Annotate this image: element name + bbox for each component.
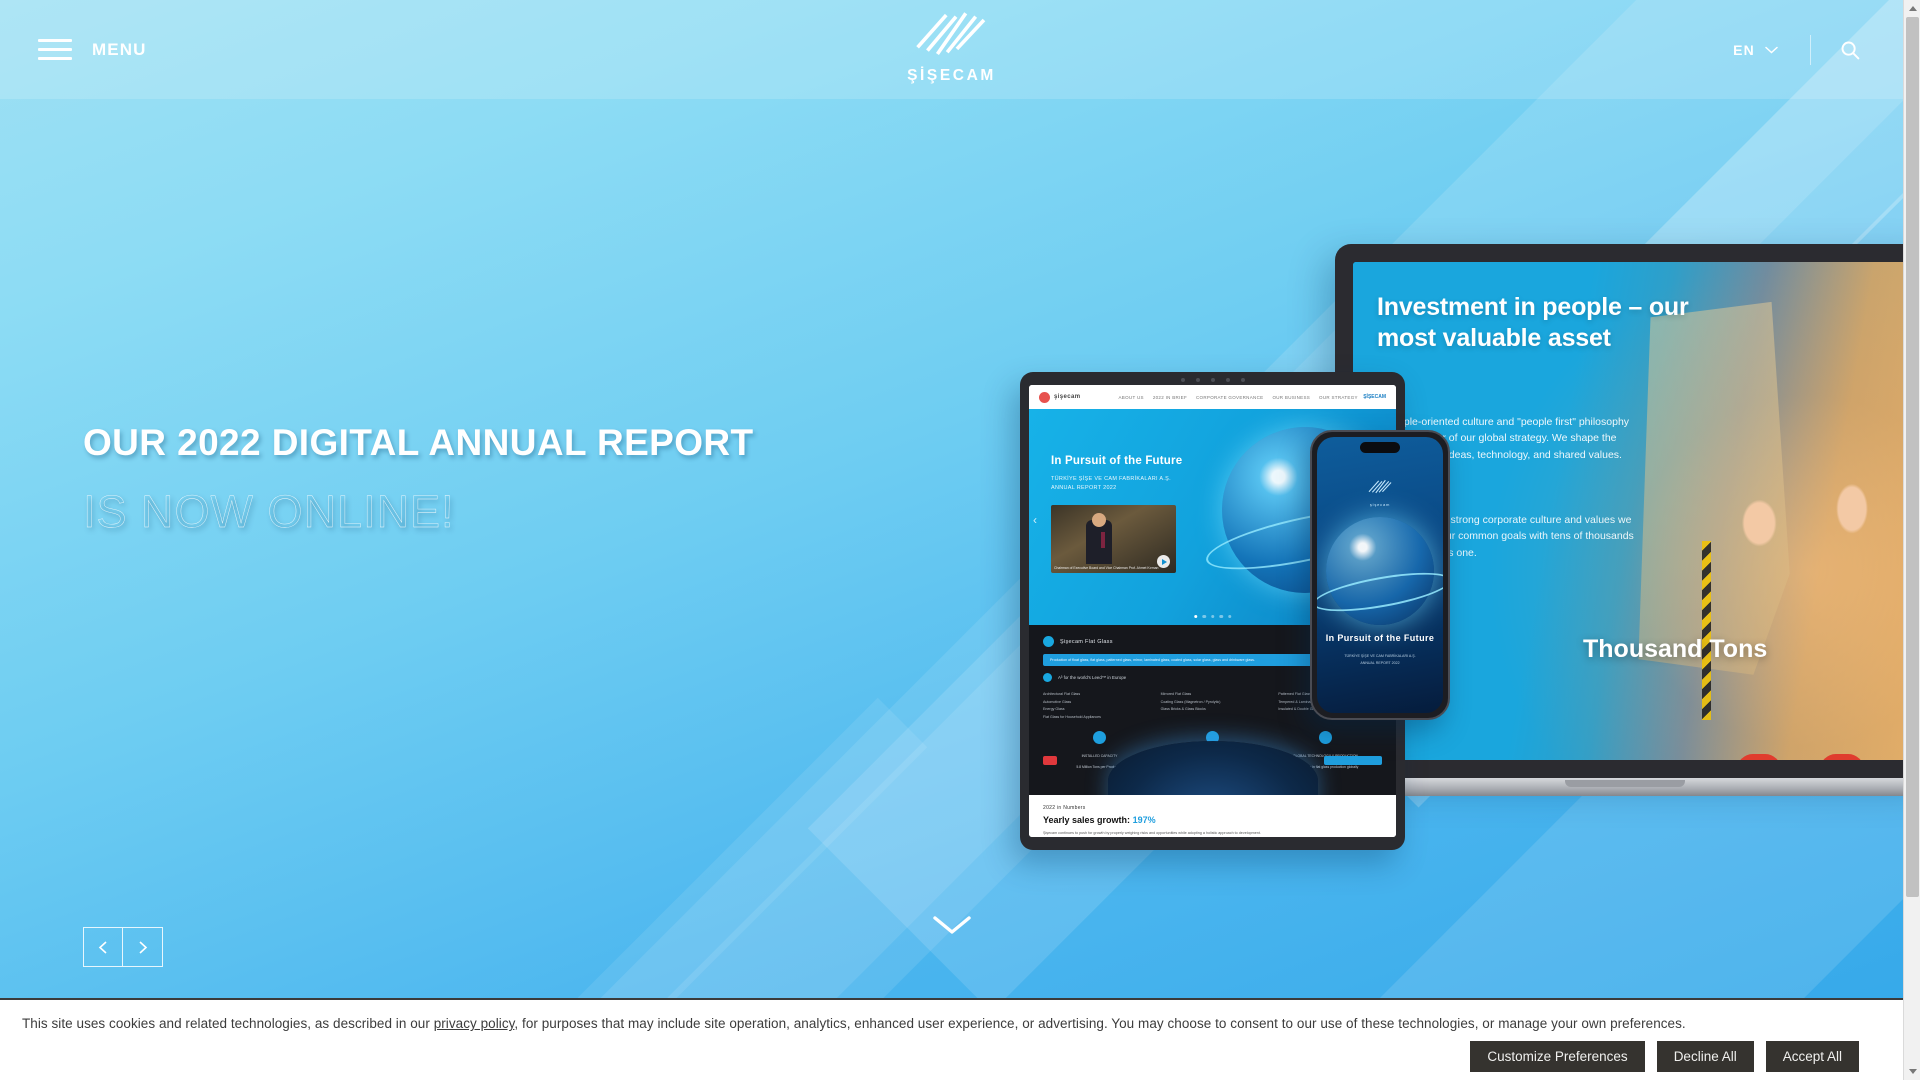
bulb-icon xyxy=(1043,673,1052,682)
tablet-nav: ABOUT US 2022 IN BRIEF CORPORATE GOVERNA… xyxy=(1119,395,1358,400)
phone-globe-graphic xyxy=(1326,517,1434,625)
globe-icon xyxy=(1319,731,1332,744)
customize-preferences-button[interactable]: Customize Preferences xyxy=(1470,1041,1644,1072)
hamburger-icon xyxy=(38,39,72,60)
header-right-group: EN xyxy=(1723,33,1903,67)
header-divider xyxy=(1810,35,1811,65)
sisecam-mark-icon xyxy=(910,6,992,58)
cookie-message: This site uses cookies and related techn… xyxy=(22,1016,1686,1031)
tablet-nav-item: OUR BUSINESS xyxy=(1272,395,1310,400)
tablet-site-topbar: şişecam ABOUT US 2022 IN BRIEF CORPORATE… xyxy=(1029,385,1396,409)
laptop-trackpad-notch xyxy=(1565,780,1685,787)
device-mockup-group: Investment in people – our most valuable… xyxy=(1020,235,1903,875)
bullet-icon xyxy=(1043,636,1054,647)
language-label: EN xyxy=(1733,42,1755,58)
cookie-consent-banner: This site uses cookies and related techn… xyxy=(0,998,1903,1080)
phone-dynamic-island xyxy=(1360,442,1400,453)
phone-mockup: şişecam In Pursuit of the Future TÜRKİYE… xyxy=(1310,430,1450,720)
privacy-policy-link[interactable]: privacy policy xyxy=(434,1016,515,1031)
capacity-icon xyxy=(1093,731,1106,744)
tablet-column: Architectural Flat Glass Automotive Glas… xyxy=(1043,691,1147,721)
carousel-prev-button[interactable] xyxy=(83,927,123,967)
chevron-down-icon xyxy=(931,913,973,937)
scroll-down-button[interactable] xyxy=(931,913,973,942)
chevron-right-icon xyxy=(136,940,149,955)
accept-all-button[interactable]: Accept All xyxy=(1766,1041,1859,1072)
tablet-hero-title: In Pursuit of the Future xyxy=(1051,455,1182,467)
tablet-stats-panel: 2022 in Numbers Yearly sales growth: 197… xyxy=(1029,795,1396,837)
cookie-message-part1: This site uses cookies and related techn… xyxy=(22,1016,434,1031)
chevron-left-icon xyxy=(97,940,110,955)
hero-subheadline: IS NOW ONLINE! xyxy=(83,486,754,538)
page-root: Investment in people – our most valuable… xyxy=(0,0,1920,1080)
tablet-red-button xyxy=(1043,756,1057,765)
scrollbar-thumb[interactable] xyxy=(1906,17,1919,897)
brand-logo[interactable]: ŞİŞECAM xyxy=(907,6,996,85)
menu-button[interactable]: MENU xyxy=(38,39,146,60)
search-icon xyxy=(1840,40,1860,60)
decline-all-button[interactable]: Decline All xyxy=(1657,1041,1754,1072)
sisecam-mark-icon xyxy=(1366,477,1394,495)
tablet-stat-paragraph: Şişecam continues to push for growth by … xyxy=(1043,830,1382,837)
cookie-message-part2: , for purposes that may include site ope… xyxy=(514,1016,1685,1031)
phone-subtitle: TÜRKİYE ŞİŞE VE CAM FABRİKALARI A.Ş. ANN… xyxy=(1317,653,1443,667)
tablet-hero-subtitle: TÜRKİYE ŞİŞE VE CAM FABRİKALARI A.Ş. ANN… xyxy=(1051,475,1171,494)
cookie-actions: Customize Preferences Decline All Accept… xyxy=(1470,1041,1859,1072)
laptop-headline: Investment in people – our most valuable… xyxy=(1377,292,1726,353)
hero-headline: OUR 2022 DIGITAL ANNUAL REPORT xyxy=(83,420,754,466)
tablet-carousel-dots xyxy=(1194,615,1232,619)
phone-screen: şişecam In Pursuit of the Future TÜRKİYE… xyxy=(1317,437,1443,713)
workers-group xyxy=(1691,401,1903,760)
phone-brand-logo: şişecam xyxy=(1366,477,1394,507)
menu-label: MENU xyxy=(92,40,146,60)
scrollbar-down-button[interactable] xyxy=(1904,1063,1920,1080)
search-button[interactable] xyxy=(1833,33,1867,67)
tablet-blue-button xyxy=(1324,756,1382,765)
triangle-down-icon xyxy=(1909,1069,1917,1074)
triangle-up-icon xyxy=(1909,6,1917,11)
language-selector[interactable]: EN xyxy=(1723,34,1788,66)
tablet-stat-label: 2022 in Numbers xyxy=(1043,805,1382,811)
tablet-video-caption: Chairman of Executive Board and Vice Cha… xyxy=(1054,566,1158,570)
carousel-next-button[interactable] xyxy=(123,927,163,967)
tablet-camera-dots xyxy=(1181,378,1245,382)
tablet-video-thumbnail: Chairman of Executive Board and Vice Cha… xyxy=(1051,505,1176,573)
tablet-nav-item: OUR STRATEGY xyxy=(1319,395,1358,400)
chevron-down-icon xyxy=(1765,46,1778,54)
page-scrollbar[interactable] xyxy=(1903,0,1920,1080)
tablet-stat-value: 197% xyxy=(1133,815,1156,825)
tablet-logo: şişecam xyxy=(1039,392,1081,403)
hero-copy: OUR 2022 DIGITAL ANNUAL REPORT IS NOW ON… xyxy=(83,420,754,538)
carousel-navigation xyxy=(83,927,163,967)
scrollbar-up-button[interactable] xyxy=(1904,0,1920,17)
play-icon xyxy=(1157,555,1170,568)
site-header: MENU ŞİŞECAM EN xyxy=(0,0,1903,99)
tablet-brand-text: şişecam xyxy=(1054,394,1081,400)
tablet-stat-headline: Yearly sales growth: 197% xyxy=(1043,815,1382,825)
logo-dot-icon xyxy=(1039,392,1050,403)
tablet-nav-item: 2022 IN BRIEF xyxy=(1153,395,1187,400)
tablet-nav-item: ABOUT US xyxy=(1119,395,1144,400)
hero-section: Investment in people – our most valuable… xyxy=(0,0,1903,1005)
tablet-nav-item: CORPORATE GOVERNANCE xyxy=(1196,395,1263,400)
brand-name: ŞİŞECAM xyxy=(907,67,996,85)
tablet-column: Mirrored Flat Glass Coating Glass (Magne… xyxy=(1161,691,1265,721)
chevron-left-icon: ‹ xyxy=(1033,513,1037,527)
laptop-metric-overlay: Thousand Tons xyxy=(1583,635,1767,664)
phone-title: In Pursuit of the Future xyxy=(1317,633,1443,643)
phone-brand-text: şişecam xyxy=(1366,502,1394,507)
tablet-corner-logo: ŞİŞECAM xyxy=(1363,394,1386,400)
